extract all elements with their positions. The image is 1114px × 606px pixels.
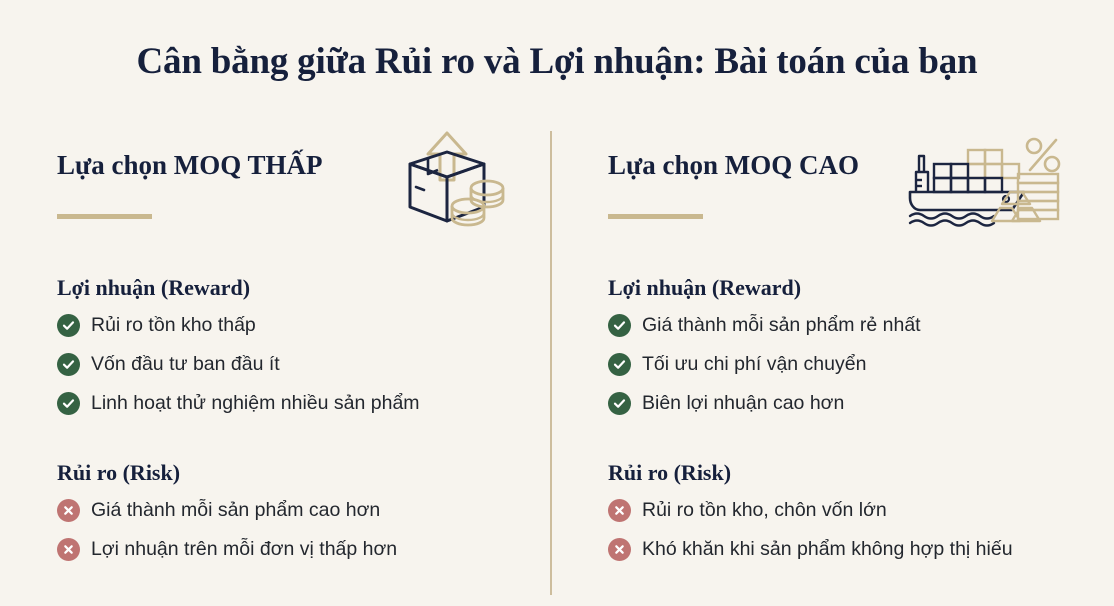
list-item-label: Giá thành mỗi sản phẩm rẻ nhất xyxy=(642,315,921,336)
cross-circle-icon xyxy=(57,538,80,561)
column-underline-high-moq xyxy=(608,214,703,219)
check-circle-icon xyxy=(57,314,80,337)
section-title-high-moq-risk: Rủi ro (Risk) xyxy=(608,460,1098,486)
list-item: Tối ưu chi phí vận chuyển xyxy=(608,353,1098,376)
column-header-low-moq: Lựa chọn MOQ THẤP xyxy=(57,130,527,222)
list-item-label: Khó khăn khi sản phẩm không hợp thị hiếu xyxy=(642,539,1013,560)
column-title-low-moq: Lựa chọn MOQ THẤP xyxy=(57,150,322,181)
cross-circle-icon xyxy=(57,499,80,522)
check-circle-icon xyxy=(608,392,631,415)
list-item: Giá thành mỗi sản phẩm cao hơn xyxy=(57,499,527,522)
list-item: Vốn đầu tư ban đầu ít xyxy=(57,353,527,376)
list-item: Khó khăn khi sản phẩm không hợp thị hiếu xyxy=(608,538,1098,561)
column-high-moq: Lựa chọn MOQ CAO xyxy=(608,130,1098,561)
section-title-high-moq-reward: Lợi nhuận (Reward) xyxy=(608,275,1098,301)
list-item-label: Rủi ro tồn kho, chôn vốn lớn xyxy=(642,500,887,521)
cargo-ship-gold-bars-icon xyxy=(906,128,1066,238)
list-item-label: Rủi ro tồn kho thấp xyxy=(91,315,256,336)
section-high-moq-risk: Rủi ro (Risk) Rủi ro tồn kho, chôn vốn l… xyxy=(608,415,1098,561)
cross-circle-icon xyxy=(608,538,631,561)
check-circle-icon xyxy=(608,353,631,376)
list-item: Lợi nhuận trên mỗi đơn vị thấp hơn xyxy=(57,538,527,561)
section-low-moq-reward: Lợi nhuận (Reward) Rủi ro tồn kho thấp xyxy=(57,222,527,415)
list-item-label: Giá thành mỗi sản phẩm cao hơn xyxy=(91,500,380,521)
infographic-canvas: Cân bằng giữa Rủi ro và Lợi nhuận: Bài t… xyxy=(0,0,1114,606)
list-item: Giá thành mỗi sản phẩm rẻ nhất xyxy=(608,314,1098,337)
list-high-moq-risk: Rủi ro tồn kho, chôn vốn lớn Khó khăn kh… xyxy=(608,499,1098,561)
list-low-moq-risk: Giá thành mỗi sản phẩm cao hơn Lợi nhuận… xyxy=(57,499,527,561)
list-item-label: Vốn đầu tư ban đầu ít xyxy=(91,354,280,375)
section-title-low-moq-risk: Rủi ro (Risk) xyxy=(57,460,527,486)
check-circle-icon xyxy=(57,353,80,376)
section-high-moq-reward: Lợi nhuận (Reward) Giá thành mỗi sản phẩ… xyxy=(608,222,1098,415)
page-title: Cân bằng giữa Rủi ro và Lợi nhuận: Bài t… xyxy=(0,40,1114,83)
column-underline-low-moq xyxy=(57,214,152,219)
section-low-moq-risk: Rủi ro (Risk) Giá thành mỗi sản phẩm cao… xyxy=(57,415,527,561)
list-item: Linh hoạt thử nghiệm nhiều sản phẩm xyxy=(57,392,527,415)
list-item-label: Linh hoạt thử nghiệm nhiều sản phẩm xyxy=(91,393,420,414)
column-low-moq: Lựa chọn MOQ THẤP xyxy=(57,130,527,561)
list-item-label: Tối ưu chi phí vận chuyển xyxy=(642,354,866,375)
column-title-high-moq: Lựa chọn MOQ CAO xyxy=(608,150,859,181)
check-circle-icon xyxy=(57,392,80,415)
list-item-label: Biên lợi nhuận cao hơn xyxy=(642,393,844,414)
check-circle-icon xyxy=(608,314,631,337)
cross-circle-icon xyxy=(608,499,631,522)
list-item: Rủi ro tồn kho thấp xyxy=(57,314,527,337)
column-header-high-moq: Lựa chọn MOQ CAO xyxy=(608,130,1098,222)
list-low-moq-reward: Rủi ro tồn kho thấp Vốn đầu tư ban đầu í… xyxy=(57,314,527,415)
list-item-label: Lợi nhuận trên mỗi đơn vị thấp hơn xyxy=(91,539,397,560)
list-high-moq-reward: Giá thành mỗi sản phẩm rẻ nhất Tối ưu ch… xyxy=(608,314,1098,415)
list-item: Rủi ro tồn kho, chôn vốn lớn xyxy=(608,499,1098,522)
box-arrow-up-coins-icon xyxy=(402,128,512,238)
list-item: Biên lợi nhuận cao hơn xyxy=(608,392,1098,415)
section-title-low-moq-reward: Lợi nhuận (Reward) xyxy=(57,275,527,301)
column-divider xyxy=(550,131,552,595)
